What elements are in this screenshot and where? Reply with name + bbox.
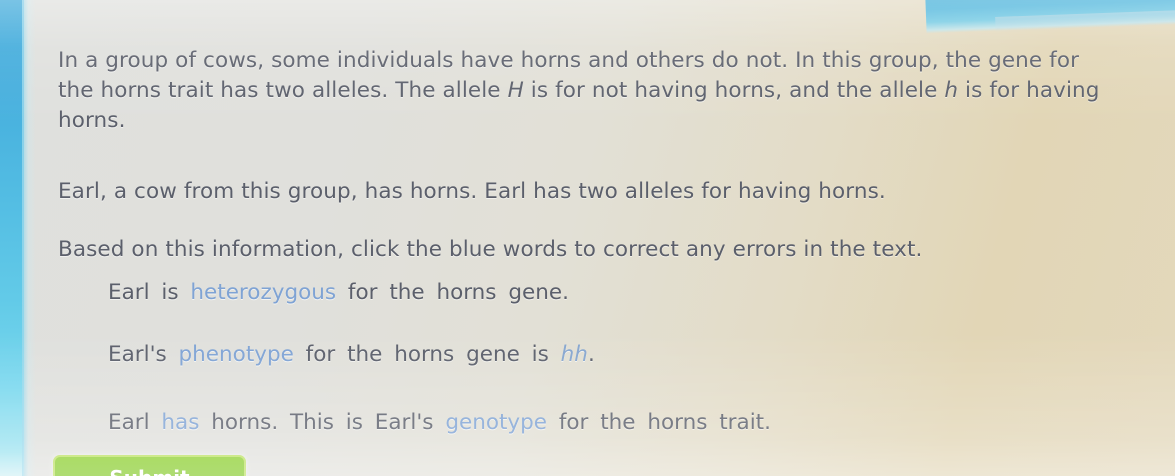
clickable-word-genotype[interactable]: genotype <box>445 410 547 435</box>
prompt-paragraph-2: Earl, a cow from this group, has horns. … <box>58 177 1098 207</box>
answer-line-2-text-4: . <box>588 342 595 367</box>
clickable-word-hh[interactable]: hh <box>561 342 588 367</box>
answer-line-1-text-0: Earl is <box>108 280 190 305</box>
answer-line-3-text-4: for the horns trait. <box>547 410 771 435</box>
prompt-paragraph-1: In a group of cows, some individuals hav… <box>58 46 1106 136</box>
allele-symbol-recessive: h <box>944 78 958 103</box>
question-content: In a group of cows, some individuals hav… <box>0 0 1175 476</box>
answer-line-1: Earl is heterozygous for the horns gene. <box>108 279 569 307</box>
clickable-word-phenotype[interactable]: phenotype <box>179 342 294 367</box>
answer-line-3-text-2: horns. This is Earl's <box>199 410 445 435</box>
answer-line-2: Earl's phenotype for the horns gene is h… <box>108 341 595 369</box>
answer-line-2-text-0: Earl's <box>108 342 179 367</box>
answer-line-2-text-2: for the horns gene is <box>294 342 561 367</box>
allele-symbol-dominant: H <box>508 78 524 103</box>
submit-button-label: Submit <box>109 466 189 476</box>
prompt-p1-text-b: is for not having horns, and the allele <box>524 78 945 103</box>
answer-line-3: Earl has horns. This is Earl's genotype … <box>108 409 771 437</box>
clickable-word-heterozygous[interactable]: heterozygous <box>190 280 336 305</box>
answer-line-3-text-0: Earl <box>108 410 161 435</box>
submit-button[interactable]: Submit <box>53 455 246 476</box>
clickable-word-has[interactable]: has <box>161 410 199 435</box>
prompt-instruction: Based on this information, click the blu… <box>58 235 1098 265</box>
screen-photo: In a group of cows, some individuals hav… <box>0 0 1175 476</box>
answer-line-1-text-2: for the horns gene. <box>336 280 569 305</box>
